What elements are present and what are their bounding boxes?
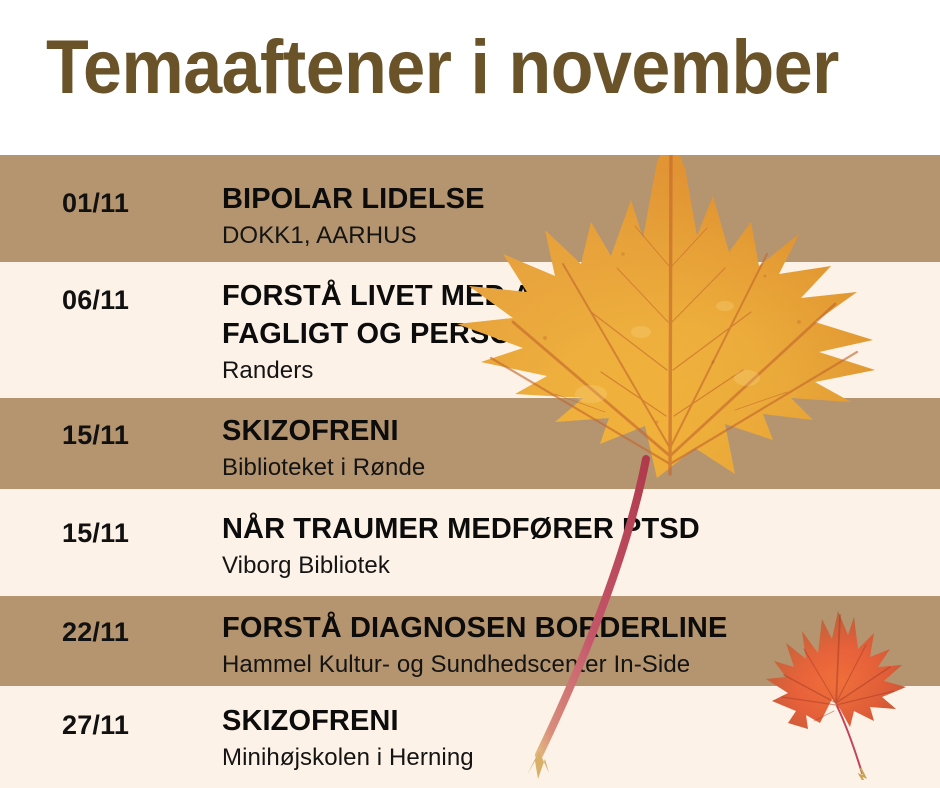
event-details: SKIZOFRENI Minihøjskolen i Herning <box>222 702 930 774</box>
event-details: NÅR TRAUMER MEDFØRER PTSD Viborg Bibliot… <box>222 510 930 582</box>
event-venue: DOKK1, AARHUS <box>222 220 930 252</box>
event-venue: Minihøjskolen i Herning <box>222 742 930 774</box>
page-title: Temaaftener i november <box>46 26 837 110</box>
event-date: 01/11 <box>62 188 129 219</box>
event-row-6: 27/11 SKIZOFRENI Minihøjskolen i Herning <box>0 686 940 788</box>
event-row-1: 01/11 BIPOLAR LIDELSE DOKK1, AARHUS <box>0 155 940 262</box>
event-venue: Hammel Kultur- og Sundhedscenter In-Side <box>222 649 930 681</box>
event-row-3: 15/11 SKIZOFRENI Biblioteket i Rønde <box>0 398 940 489</box>
poster-header: Temaaftener i november <box>0 0 940 155</box>
event-details: FORSTÅ DIAGNOSEN BORDERLINE Hammel Kultu… <box>222 609 930 681</box>
event-title-line2: FAGLIGT OG PERSONLIGT PERSPEKTIV <box>222 315 930 353</box>
event-title-line1: NÅR TRAUMER MEDFØRER PTSD <box>222 510 930 548</box>
event-date: 15/11 <box>62 420 129 451</box>
event-venue: Randers <box>222 355 930 387</box>
poster-canvas: 01/11 BIPOLAR LIDELSE DOKK1, AARHUS 06/1… <box>0 0 940 788</box>
event-title-line1: BIPOLAR LIDELSE <box>222 180 930 218</box>
event-row-4: 15/11 NÅR TRAUMER MEDFØRER PTSD Viborg B… <box>0 489 940 596</box>
event-row-5: 22/11 FORSTÅ DIAGNOSEN BORDERLINE Hammel… <box>0 596 940 686</box>
event-venue: Viborg Bibliotek <box>222 550 930 582</box>
event-details: BIPOLAR LIDELSE DOKK1, AARHUS <box>222 180 930 252</box>
event-venue: Biblioteket i Rønde <box>222 452 930 484</box>
event-title-line1: SKIZOFRENI <box>222 702 930 740</box>
event-row-2: 06/11 FORSTÅ LIVET MED AUTISME UD FRA ET… <box>0 262 940 398</box>
event-date: 06/11 <box>62 285 129 316</box>
event-title-line1: FORSTÅ DIAGNOSEN BORDERLINE <box>222 609 930 647</box>
event-date: 15/11 <box>62 518 129 549</box>
event-date: 27/11 <box>62 710 129 741</box>
event-details: SKIZOFRENI Biblioteket i Rønde <box>222 412 930 484</box>
event-title-line1: SKIZOFRENI <box>222 412 930 450</box>
event-title-line1: FORSTÅ LIVET MED AUTISME UD FRA ET <box>222 277 930 315</box>
event-details: FORSTÅ LIVET MED AUTISME UD FRA ET FAGLI… <box>222 277 930 387</box>
event-date: 22/11 <box>62 617 129 648</box>
